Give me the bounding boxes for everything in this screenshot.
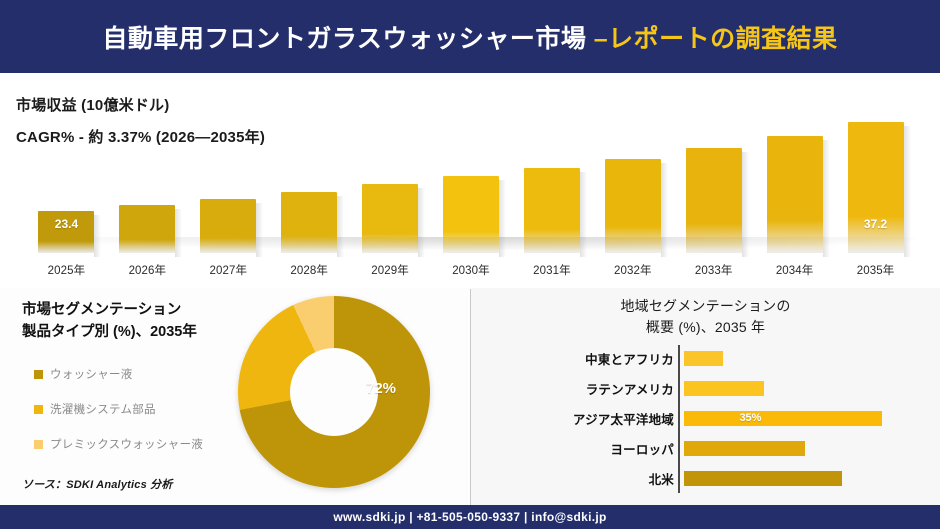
region-title-line2: 概要 (%)、2035 年 xyxy=(471,317,940,338)
revenue-bar-columns: 23.42025年2026年2027年2028年2029年2030年2031年2… xyxy=(26,93,916,278)
region-bar-label: 北米 xyxy=(471,469,680,488)
page-title: 自動車用フロントガラスウォッシャー市場 –レポートの調査結果 xyxy=(102,19,837,55)
revenue-bar-column: 2032年 xyxy=(592,93,673,278)
revenue-bar xyxy=(605,159,661,253)
revenue-bar xyxy=(119,205,175,253)
revenue-bar-column: 2028年 xyxy=(269,93,350,278)
region-bar xyxy=(684,381,764,396)
region-bar-row: ヨーロッパ xyxy=(471,434,940,462)
revenue-bar xyxy=(362,184,418,253)
revenue-bar-label: 2027年 xyxy=(209,262,247,278)
revenue-bar: 23.4 xyxy=(38,211,94,253)
region-bar-track xyxy=(680,464,940,492)
revenue-bar-label: 2030年 xyxy=(452,262,490,278)
donut-legend-item: ウォッシャー液 xyxy=(34,366,249,382)
donut-hole xyxy=(290,348,378,436)
revenue-bar-column: 2033年 xyxy=(673,93,754,278)
revenue-bar-label: 2033年 xyxy=(695,262,733,278)
region-bar-value: 35% xyxy=(739,411,761,426)
revenue-bar xyxy=(686,148,742,253)
revenue-bar-column: 2031年 xyxy=(511,93,592,278)
footer-contact-text: www.sdki.jp | +81-505-050-9337 | info@sd… xyxy=(333,510,606,524)
revenue-bar-label: 2026年 xyxy=(129,262,167,278)
header-banner: 自動車用フロントガラスウォッシャー市場 –レポートの調査結果 xyxy=(0,0,940,73)
region-bar-track xyxy=(680,434,940,462)
revenue-bar-label: 2029年 xyxy=(371,262,409,278)
legend-swatch-icon xyxy=(34,440,43,449)
donut-legend-item: プレミックスウォッシャー液 xyxy=(34,436,249,452)
source-note: ソース：SDKI Analytics 分析 xyxy=(22,476,173,492)
legend-swatch-icon xyxy=(34,405,43,414)
revenue-bar xyxy=(767,136,823,253)
region-bar-row: アジア太平洋地域35% xyxy=(471,404,940,432)
page-title-main: 自動車用フロントガラスウォッシャー市場 xyxy=(102,25,586,53)
region-bar xyxy=(684,471,842,486)
donut-title-line2: 製品タイプ別 (%)、2035年 xyxy=(22,321,252,343)
revenue-bar: 37.2 xyxy=(848,122,904,253)
donut-legend-label: プレミックスウォッシャー液 xyxy=(50,436,203,452)
region-bar-track xyxy=(680,344,940,372)
region-bar-chart-panel: 地域セグメンテーションの 概要 (%)、2035 年 中東とアフリカラテンアメリ… xyxy=(471,288,940,505)
infographic-page: 自動車用フロントガラスウォッシャー市場 –レポートの調査結果 市場収益 (10億… xyxy=(0,0,940,529)
region-bar-track: 35% xyxy=(680,404,940,432)
region-panel-title: 地域セグメンテーションの 概要 (%)、2035 年 xyxy=(471,296,940,338)
revenue-bar xyxy=(281,192,337,253)
revenue-bars-area: 23.42025年2026年2027年2028年2029年2030年2031年2… xyxy=(26,93,916,278)
region-bar-label: ヨーロッパ xyxy=(471,439,680,458)
region-bar-row: ラテンアメリカ xyxy=(471,374,940,402)
donut-legend-label: ウォッシャー液 xyxy=(50,366,133,382)
region-bar-label: 中東とアフリカ xyxy=(471,349,680,368)
revenue-bar-column: 2029年 xyxy=(350,93,431,278)
revenue-bar-chart-panel: 市場収益 (10億米ドル) CAGR% - 約 3.37% (2026―2035… xyxy=(0,73,940,288)
revenue-bar-label: 2031年 xyxy=(533,262,571,278)
region-bar-row: 中東とアフリカ xyxy=(471,344,940,372)
revenue-bar-column: 23.42025年 xyxy=(26,93,107,278)
region-bar: 35% xyxy=(684,411,882,426)
region-bar-track xyxy=(680,374,940,402)
donut-panel-title: 市場セグメンテーション 製品タイプ別 (%)、2035年 xyxy=(22,299,252,343)
donut-center-value: 72% xyxy=(366,380,396,397)
legend-swatch-icon xyxy=(34,370,43,379)
revenue-bar-label: 2025年 xyxy=(48,262,86,278)
footer-banner: www.sdki.jp | +81-505-050-9337 | info@sd… xyxy=(0,505,940,529)
revenue-bar-column: 37.22035年 xyxy=(835,93,916,278)
revenue-bar-column: 2026年 xyxy=(107,93,188,278)
donut-legend: ウォッシャー液洗濯機システム部品プレミックスウォッシャー液 xyxy=(34,366,249,471)
region-bar xyxy=(684,351,723,366)
revenue-bar-label: 2034年 xyxy=(776,262,814,278)
revenue-bar xyxy=(200,199,256,253)
revenue-bar-column: 2034年 xyxy=(754,93,835,278)
region-bar-row: 北米 xyxy=(471,464,940,492)
page-title-accent: –レポートの調査結果 xyxy=(594,25,838,53)
segmentation-donut-panel: 市場セグメンテーション 製品タイプ別 (%)、2035年 ウォッシャー液洗濯機シ… xyxy=(0,288,470,505)
revenue-bar-value: 23.4 xyxy=(38,217,94,231)
panel-vertical-divider xyxy=(470,289,471,505)
donut-legend-item: 洗濯機システム部品 xyxy=(34,401,249,417)
revenue-bar-label: 2028年 xyxy=(290,262,328,278)
revenue-bar-label: 2035年 xyxy=(857,262,895,278)
revenue-bar-column: 2030年 xyxy=(431,93,512,278)
region-chart-area: 中東とアフリカラテンアメリカアジア太平洋地域35%ヨーロッパ北米 xyxy=(471,343,940,495)
donut-legend-label: 洗濯機システム部品 xyxy=(50,401,156,417)
revenue-bar-column: 2027年 xyxy=(188,93,269,278)
region-bar-label: ラテンアメリカ xyxy=(471,379,680,398)
donut-chart: 72% xyxy=(238,296,438,496)
region-bar-label: アジア太平洋地域 xyxy=(471,409,680,428)
revenue-bar xyxy=(443,176,499,253)
revenue-bar-label: 2032年 xyxy=(614,262,652,278)
region-title-line1: 地域セグメンテーションの xyxy=(471,296,940,317)
region-bar xyxy=(684,441,805,456)
region-bar-rows: 中東とアフリカラテンアメリカアジア太平洋地域35%ヨーロッパ北米 xyxy=(471,343,940,493)
donut-title-line1: 市場セグメンテーション xyxy=(22,299,252,321)
revenue-bar-value: 37.2 xyxy=(848,217,904,231)
revenue-bar xyxy=(524,168,580,253)
